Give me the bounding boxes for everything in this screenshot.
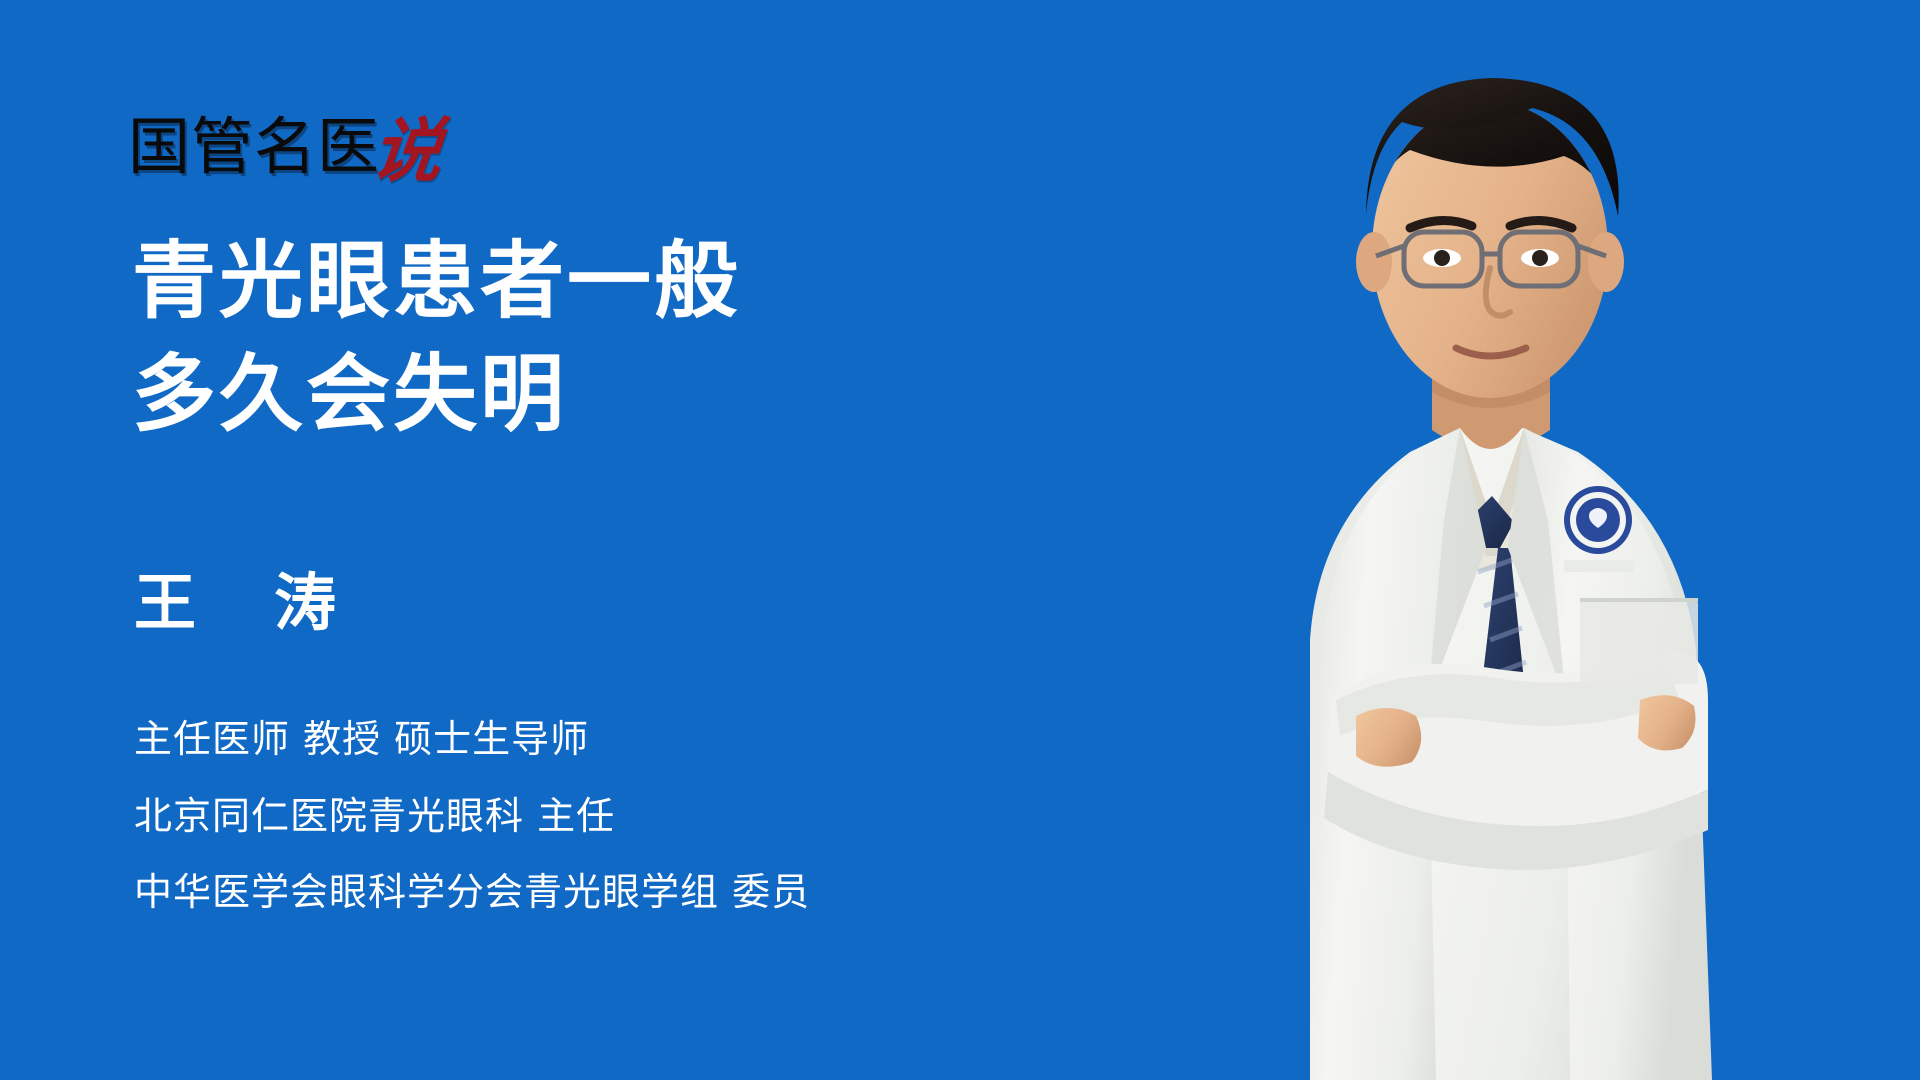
credential-line: 北京同仁医院青光眼科 主任	[134, 795, 810, 839]
eyeglasses	[1376, 232, 1606, 286]
program-title-line-1: 青光眼患者一般	[132, 225, 1032, 338]
brand-logo: 国管名医 说	[128, 96, 442, 178]
brand-logo-accent-text: 说	[369, 118, 446, 185]
doctor-portrait	[1160, 0, 1920, 1080]
doctor-name: 王 涛	[134, 572, 344, 634]
brand-logo-main-text: 国管名医	[128, 116, 380, 178]
program-title: 青光眼患者一般 多久会失明	[132, 225, 1032, 452]
hospital-badge	[1564, 486, 1634, 572]
doctor-credentials: 主任医师 教授 硕士生导师 北京同仁医院青光眼科 主任 中华医学会眼科学分会青光…	[134, 718, 810, 915]
credential-line: 主任医师 教授 硕士生导师	[134, 718, 810, 762]
credential-line: 中华医学会眼科学分会青光眼学组 委员	[134, 871, 810, 915]
promo-banner: 国管名医 说 青光眼患者一般 多久会失明 王 涛 主任医师 教授 硕士生导师 北…	[0, 0, 1920, 1080]
program-title-line-2: 多久会失明	[132, 338, 1032, 451]
